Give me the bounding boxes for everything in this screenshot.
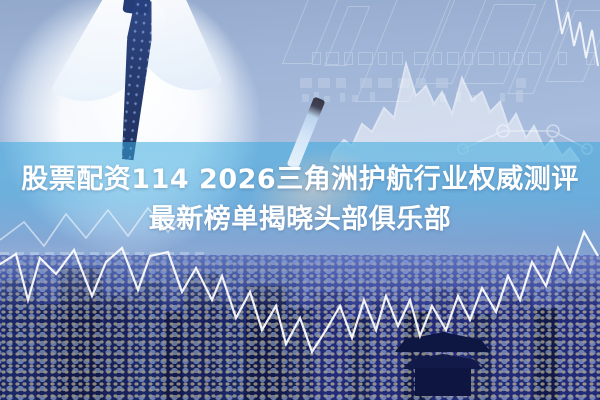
- poster-image: 股票配资114 2026三角洲护航行业权威测评 最新榜单揭晓头部俱乐部: [0, 0, 600, 400]
- title-line-2: 最新榜单揭晓头部俱乐部: [0, 200, 600, 240]
- page-title: 股票配资114 2026三角洲护航行业权威测评 最新榜单揭晓头部俱乐部: [0, 160, 600, 240]
- title-line-1: 股票配资114 2026三角洲护航行业权威测评: [0, 160, 600, 200]
